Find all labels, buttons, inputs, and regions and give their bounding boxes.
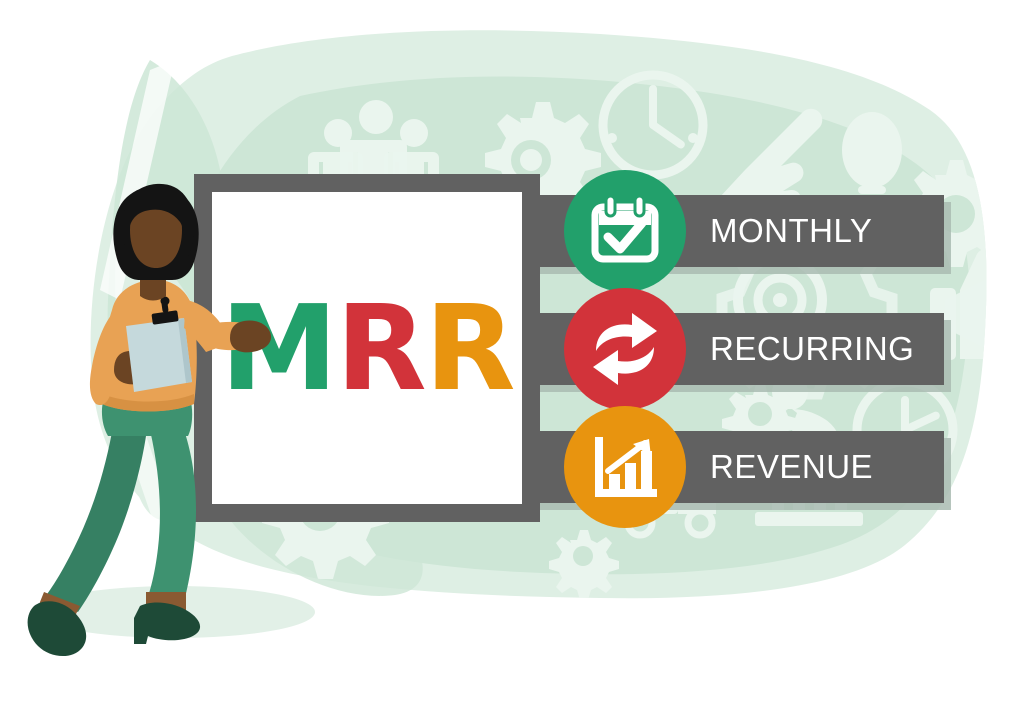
leg-back (44, 432, 146, 612)
leg-front (146, 430, 196, 602)
character-layer (0, 0, 1024, 707)
hand-right (230, 320, 271, 352)
infographic-canvas: MONTHLY RECURRING (0, 0, 1024, 707)
